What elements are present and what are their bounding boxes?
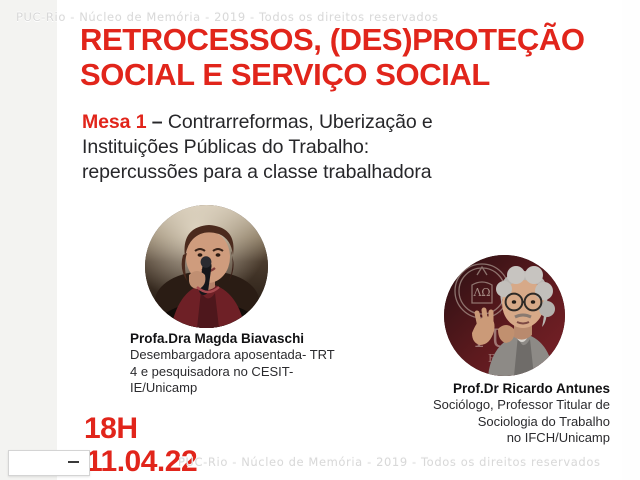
svg-text:ΛΩ: ΛΩ (472, 286, 490, 299)
title-line-1: RETROCESSOS, (DES)PROTEÇÃO (80, 22, 620, 57)
caption-ricardo-antunes: Prof.Dr Ricardo Antunes Sociólogo, Profe… (370, 380, 610, 447)
slide-right-gutter (622, 0, 640, 480)
photo-ricardo-antunes: ΛΩ PUC RIO (444, 255, 565, 376)
session-line-1-rest: Contrarreformas, Uberização e (163, 111, 433, 133)
session-line-3: repercussões para a classe trabalhadora (82, 160, 552, 185)
speaker-name: Profa.Dra Magda Biavaschi (130, 330, 360, 347)
speaker-role-line-1: Desembargadora aposentada- TRT (130, 347, 360, 364)
watermark-bottom: PUC-Rio - Núcleo de Memória - 2019 - Tod… (178, 455, 601, 469)
speaker-role-line-3: IE/Unicamp (130, 380, 360, 397)
speaker-role-line-3: no IFCH/Unicamp (370, 430, 610, 447)
event-time: 18H (84, 413, 138, 445)
photo-magda-biavaschi (145, 205, 268, 328)
overlay-input-box[interactable] (8, 450, 90, 476)
event-date: 11.04.22 (86, 446, 197, 478)
speaker-role-line-1: Sociólogo, Professor Titular de (370, 397, 610, 414)
presentation-slide: PUC-Rio - Núcleo de Memória - 2019 - Tod… (0, 0, 640, 480)
session-line-2: Instituições Públicas do Trabalho: (82, 135, 552, 160)
slide-left-gutter (0, 0, 57, 480)
title-line-2: SOCIAL E SERVIÇO SOCIAL (80, 57, 620, 92)
session-subtitle: Mesa 1 – Contrarreformas, Uberização e I… (82, 110, 552, 185)
speaker-name: Prof.Dr Ricardo Antunes (370, 380, 610, 397)
page-title: RETROCESSOS, (DES)PROTEÇÃO SOCIAL E SERV… (80, 22, 620, 92)
session-label: Mesa 1 (82, 111, 146, 133)
overlay-dash-icon (68, 461, 79, 463)
caption-magda-biavaschi: Profa.Dra Magda Biavaschi Desembargadora… (130, 330, 360, 397)
speaker-role-line-2: Sociologia do Trabalho (370, 414, 610, 431)
session-line-1: Mesa 1 – Contrarreformas, Uberização e (82, 110, 552, 135)
speaker-role-line-2: 4 e pesquisadora no CESIT- (130, 364, 360, 381)
session-dash: – (152, 111, 163, 133)
